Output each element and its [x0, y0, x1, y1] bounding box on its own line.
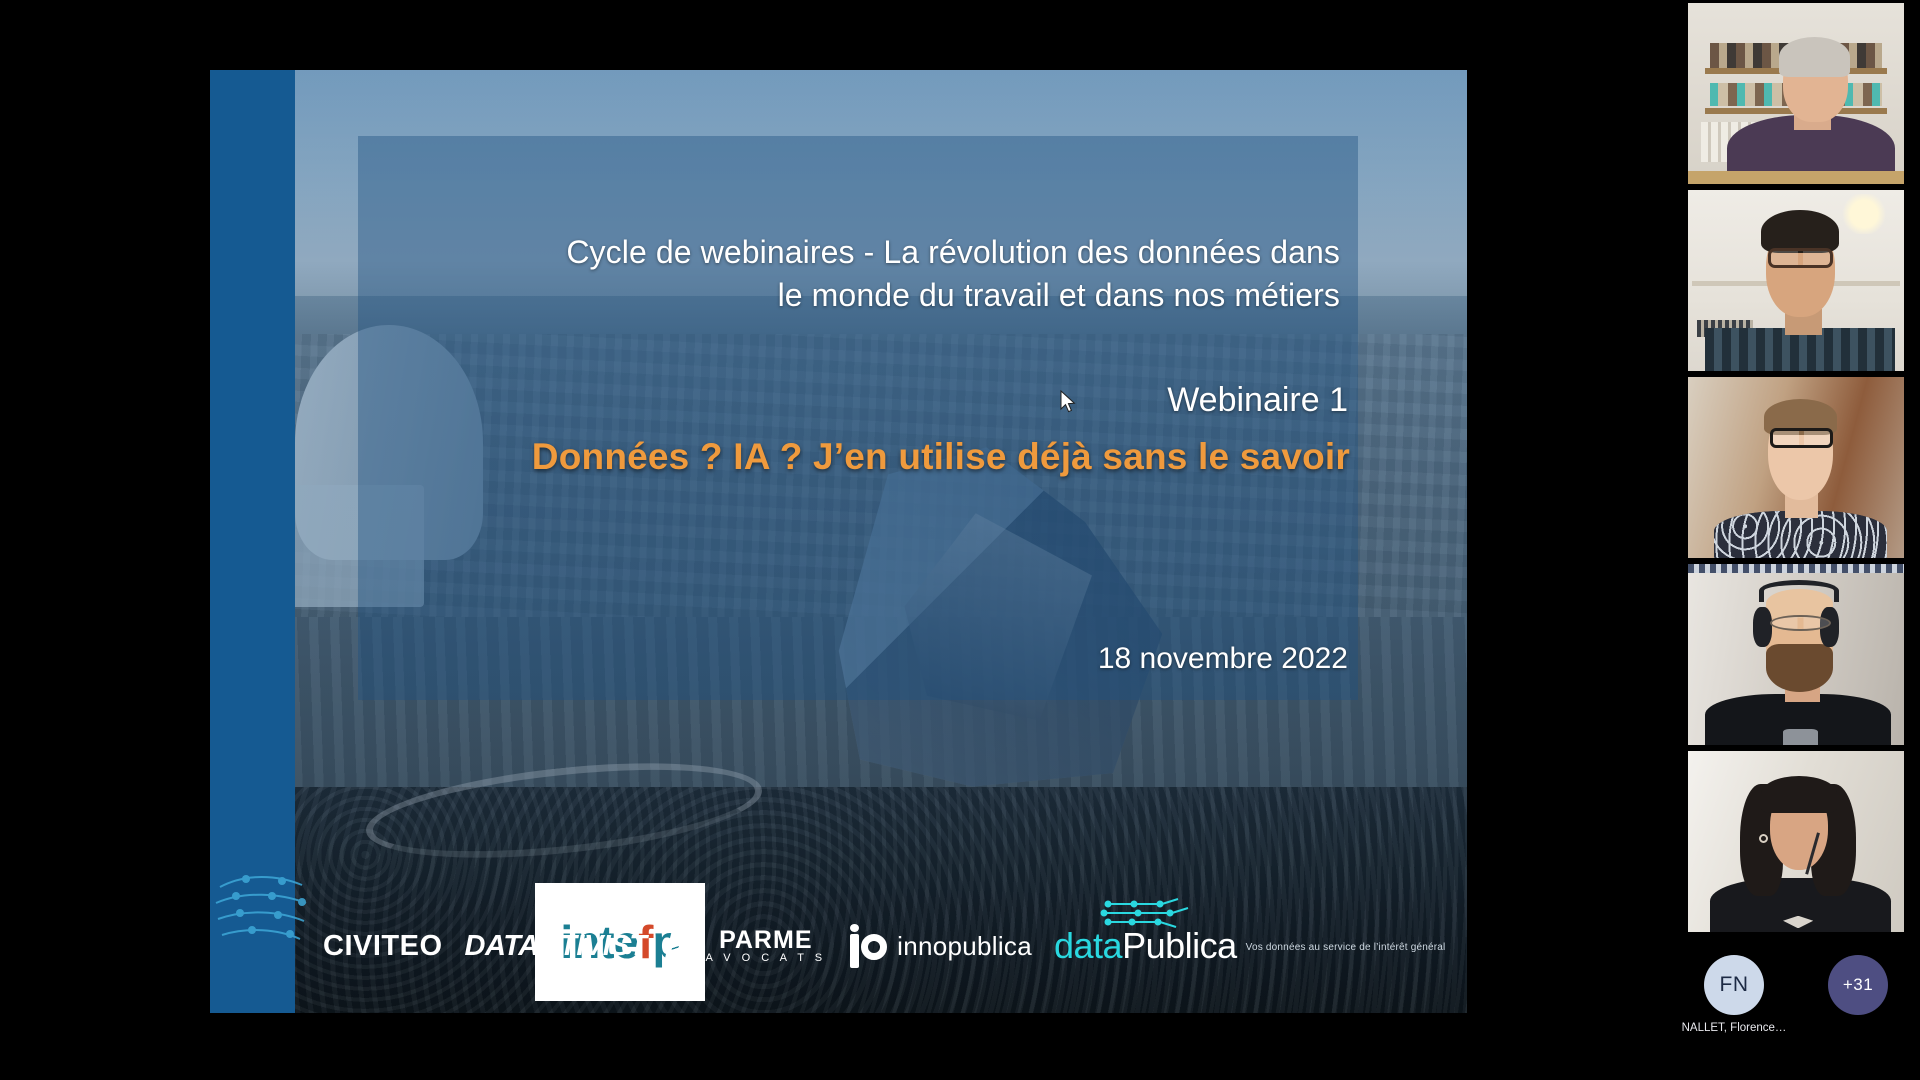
mouse-cursor-icon	[1060, 390, 1076, 414]
datapublica-logo-label-1: data	[1054, 925, 1122, 966]
participant-tile-5[interactable]	[1672, 748, 1920, 935]
civiteo-logo: CIVITEO	[323, 930, 443, 963]
parme-chevron-icon	[664, 929, 698, 963]
datapublica-logo-label-2: Publica	[1122, 925, 1237, 966]
slide-heading-line-1: Cycle de webinaires - La révolution des …	[378, 231, 1348, 274]
innopublica-logo: innopublica	[848, 924, 1032, 968]
participant-overflow-item[interactable]: +31	[1806, 955, 1910, 1015]
participant-video-rail[interactable]: FN NALLET, Florence… +31	[1672, 0, 1920, 1080]
parme-logo-label: PARME	[705, 927, 826, 953]
participant-overflow-badge[interactable]: +31	[1828, 955, 1888, 1015]
slide-left-blue-bar	[210, 70, 295, 1013]
datapublica-tagline: Vos données au service de l’intérêt géné…	[1246, 943, 1446, 953]
participant-avatar-name: NALLET, Florence…	[1682, 1022, 1787, 1034]
innopublica-mark-icon	[848, 924, 888, 968]
participant-tile-4[interactable]	[1672, 561, 1920, 748]
slide-heading: Cycle de webinaires - La révolution des …	[378, 231, 1348, 316]
presentation-slide[interactable]: Cycle de webinaires - La révolution des …	[210, 70, 1467, 1013]
slide-session-label: Webinaire 1	[1167, 381, 1348, 420]
parme-avocats-logo: PARME A V O C A T S	[668, 927, 826, 965]
meeting-window: Cycle de webinaires - La révolution des …	[0, 0, 1920, 1080]
datapublica-circuit-icon	[1100, 896, 1210, 930]
participant-avatar-row: FN NALLET, Florence… +31	[1672, 935, 1920, 1080]
participant-tile-2[interactable]	[1672, 187, 1920, 374]
participant-tile-3[interactable]	[1672, 374, 1920, 561]
datactivist-logo: DATACTIVIST	[465, 930, 647, 963]
slide-date: 18 novembre 2022	[1098, 642, 1348, 676]
datapublica-logo: dataPublica Vos données au service de l’…	[1054, 928, 1446, 964]
slide-session-title: Données ? IA ? J’en utilise déjà sans le…	[358, 436, 1350, 478]
parme-logo-sublabel: A V O C A T S	[705, 953, 826, 965]
slide-heading-line-2: le monde du travail et dans nos métiers	[378, 274, 1348, 317]
partner-logo-strip: CIVITEO DATACTIVIST PARME A V O C A T S …	[295, 893, 1467, 1013]
participant-avatar-item[interactable]: FN NALLET, Florence…	[1682, 955, 1786, 1034]
slide-text-card: Cycle de webinaires - La révolution des …	[358, 136, 1358, 700]
screen-share-stage[interactable]: Cycle de webinaires - La révolution des …	[0, 0, 1672, 1080]
participant-tile-1[interactable]	[1672, 0, 1920, 187]
participant-avatar-initials[interactable]: FN	[1704, 955, 1764, 1015]
innopublica-logo-label: innopublica	[897, 931, 1032, 962]
